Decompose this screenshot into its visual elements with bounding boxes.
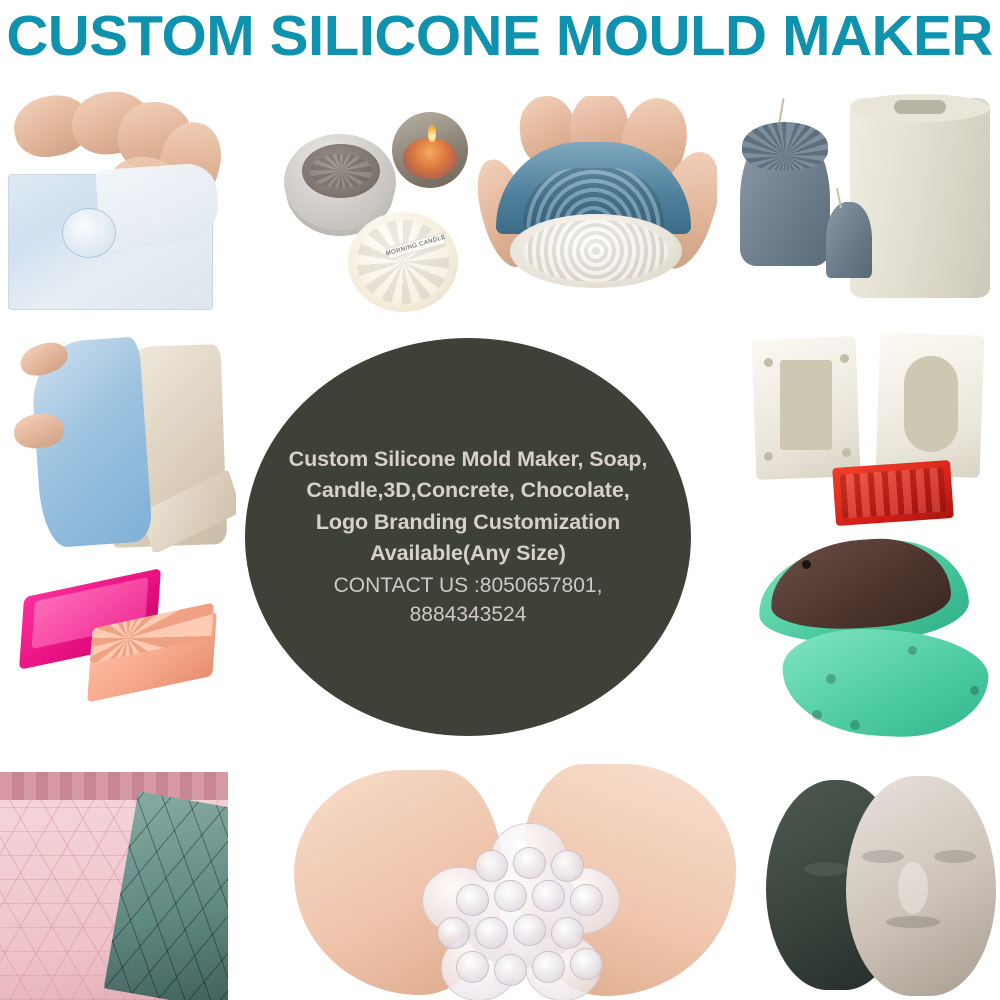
gallery-tile-bird-mould [748, 534, 1000, 750]
photo-corbel-blue-mould [14, 330, 236, 552]
poster-canvas: CUSTOM SILICONE MOULD MAKER MORNING CAND… [0, 0, 1000, 1000]
gallery-tile-hex-concrete-mat [0, 772, 228, 1000]
poster-title-bar: CUSTOM SILICONE MOULD MAKER [0, 0, 1000, 72]
photo-injection-mould-red-part [738, 332, 1000, 544]
gallery-tile-face-mould [756, 766, 1000, 1000]
photo-blue-medallion-mould [472, 96, 717, 318]
photo-hex-concrete-mat [0, 772, 228, 1000]
center-info-badge: Custom Silicone Mold Maker, Soap, Candle… [245, 338, 691, 736]
photo-rose-candle-mould: MORNING CANDLE [262, 92, 482, 322]
flower-mould-shape [426, 830, 616, 998]
photo-flower-tray-mould [286, 762, 742, 1000]
candle-inset-photo [392, 112, 468, 188]
page-title: CUSTOM SILICONE MOULD MAKER [7, 8, 993, 65]
photo-david-bust-mould [722, 88, 1000, 320]
badge-headline: Custom Silicone Mold Maker, Soap, Candle… [279, 444, 657, 569]
gallery-tile-david-bust-mould [722, 88, 1000, 320]
gallery-tile-rose-candle-mould: MORNING CANDLE [262, 92, 482, 322]
photo-face-mould [756, 766, 1000, 1000]
badge-contact-line: CONTACT US :8050657801, 8884343524 [279, 571, 657, 630]
gallery-tile-flower-tray-mould [286, 762, 742, 1000]
photo-hand-clear-sheet [0, 88, 222, 313]
gallery-tile-corbel-blue-mould [14, 330, 236, 552]
gallery-tile-injection-mould-red-part [738, 332, 1000, 544]
photo-bird-mould [748, 534, 1000, 750]
gallery-tile-blue-medallion-mould [472, 96, 717, 318]
photo-pink-loaf-soap-mould [10, 560, 230, 740]
gallery-tile-pink-loaf-soap-mould [10, 560, 230, 740]
gallery-tile-hand-clear-sheet [0, 88, 222, 313]
